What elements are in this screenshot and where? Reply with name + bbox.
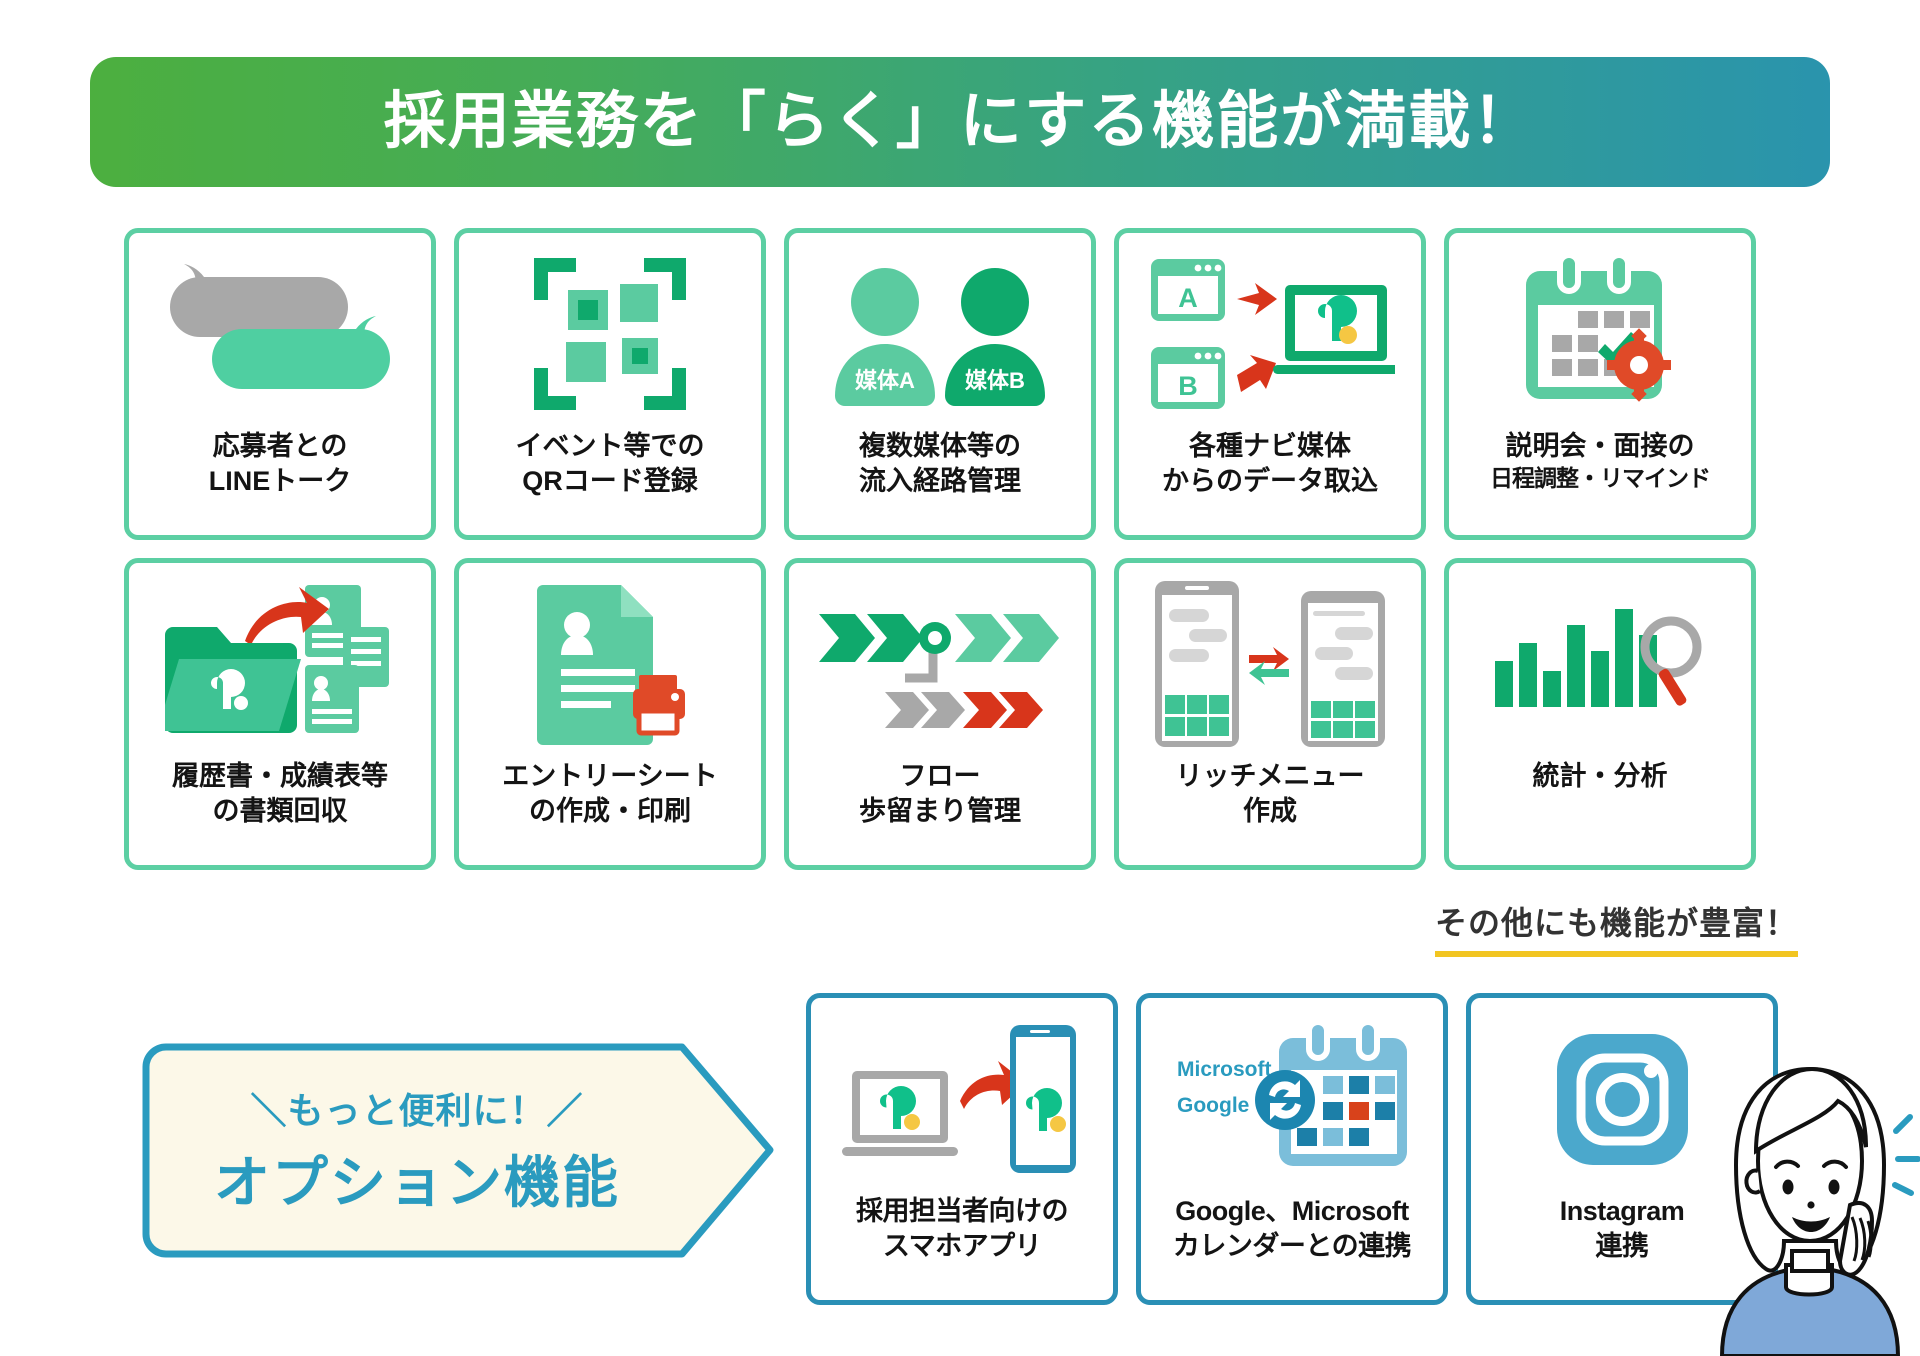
feature-card-rich-menu[interactable]: リッチメニュー 作成 (1114, 558, 1426, 870)
feature-card-label: 説明会・面接の 日程調整・リマインド (1486, 429, 1714, 493)
infographic-page: 採用業務を「らく」にする機能が満載！ 応募者との LINEトーク (0, 0, 1920, 1356)
character-illustration (1700, 1055, 1920, 1356)
window-b-text: B (1178, 371, 1198, 401)
more-features-note: その他にも機能が豊富！ (1435, 898, 1798, 957)
feature-card-statistics[interactable]: 統計・分析 (1444, 558, 1756, 870)
option-card-calendar-sync[interactable]: Microsoft Google (1136, 993, 1448, 1305)
entry-sheet-printer-icon (459, 563, 761, 759)
badge-a-text: 媒体A (855, 368, 915, 393)
option-card-label: Google、Microsoft カレンダーとの連携 (1173, 1194, 1411, 1263)
flow-arrows-icon (789, 563, 1091, 759)
option-banner: ＼もっと便利に！／ オプション機能 (132, 1043, 784, 1258)
data-import-laptop-icon: A B (1119, 233, 1421, 429)
feature-card-label: 履歴書・成績表等 の書類回収 (168, 759, 392, 828)
feature-row-1: 応募者との LINEトーク (124, 228, 1804, 540)
option-card-smartphone-app[interactable]: 採用担当者向けの スマホアプリ (806, 993, 1118, 1305)
feature-card-label: リッチメニュー 作成 (1172, 759, 1369, 828)
badge-b-text: 媒体B (965, 368, 1025, 393)
chat-bubbles-icon (129, 233, 431, 429)
feature-card-flow-retention[interactable]: フロー 歩留まり管理 (784, 558, 1096, 870)
feature-card-schedule-remind[interactable]: 説明会・面接の 日程調整・リマインド (1444, 228, 1756, 540)
option-card-label: 採用担当者向けの スマホアプリ (856, 1194, 1068, 1263)
feature-card-data-import[interactable]: A B (1114, 228, 1426, 540)
page-title: 採用業務を「らく」にする機能が満載！ (384, 91, 1537, 153)
option-banner-title: オプション機能 (214, 1138, 620, 1219)
option-banner-sub: ＼もっと便利に！／ (250, 1082, 583, 1134)
feature-card-label: 各種ナビ媒体 からのデータ取込 (1158, 429, 1382, 498)
option-card-row: 採用担当者向けの スマホアプリ Microsoft Google (806, 993, 1778, 1305)
bar-chart-magnifier-icon (1449, 563, 1751, 759)
qr-code-icon (459, 233, 761, 429)
folder-documents-icon (129, 563, 431, 759)
calendar-gear-icon (1449, 233, 1751, 429)
header-banner: 採用業務を「らく」にする機能が満載！ (90, 57, 1830, 187)
feature-card-label: フロー 歩留まり管理 (855, 759, 1025, 828)
feature-card-label: 応募者との LINEトーク (205, 429, 356, 498)
feature-card-line-talk[interactable]: 応募者との LINEトーク (124, 228, 436, 540)
feature-card-label: 複数媒体等の 流入経路管理 (855, 429, 1025, 498)
calendar-sync-icon: Microsoft Google (1141, 998, 1443, 1194)
feature-card-entry-sheet[interactable]: エントリーシート の作成・印刷 (454, 558, 766, 870)
feature-row-2: 履歴書・成績表等 の書類回収 (124, 558, 1804, 870)
feature-card-source-tracking[interactable]: 媒体A 媒体B 複数媒体等の 流入経路管理 (784, 228, 1096, 540)
feature-card-label: 統計・分析 (1529, 759, 1672, 794)
google-label: Google (1177, 1094, 1249, 1117)
feature-card-document-collection[interactable]: 履歴書・成績表等 の書類回収 (124, 558, 436, 870)
feature-card-label: イベント等での QRコード登録 (512, 429, 709, 498)
feature-card-label: エントリーシート の作成・印刷 (498, 759, 721, 828)
microsoft-label: Microsoft (1177, 1058, 1272, 1081)
laptop-to-phone-icon (811, 998, 1113, 1194)
two-persons-icon: 媒体A 媒体B (789, 233, 1091, 429)
option-card-label: Instagram 連携 (1560, 1194, 1685, 1263)
window-a-text: A (1178, 283, 1198, 313)
feature-grid: 応募者との LINEトーク (124, 228, 1804, 888)
rich-menu-phones-icon (1119, 563, 1421, 759)
feature-card-qr-register[interactable]: イベント等での QRコード登録 (454, 228, 766, 540)
